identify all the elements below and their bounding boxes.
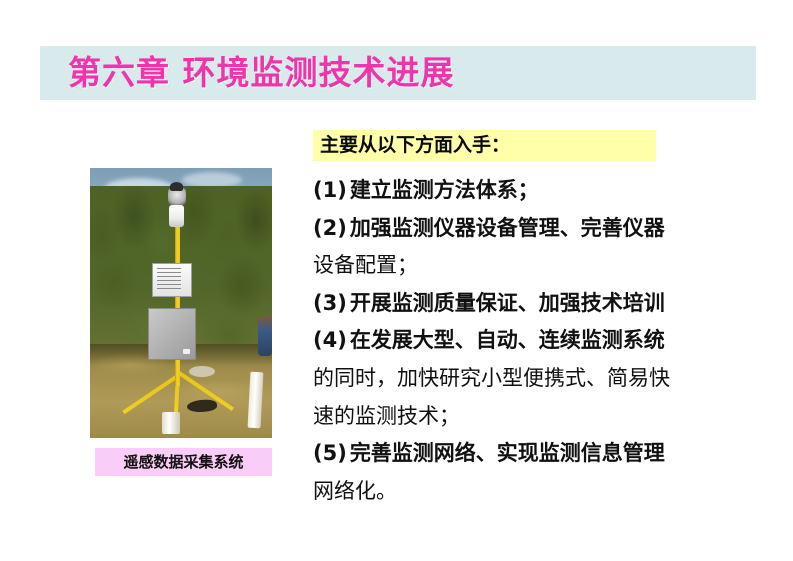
list-item-text: 设备配置； [313, 253, 418, 277]
list-item-text: 的同时，加快研究小型便携式、简易快 [313, 366, 670, 390]
body-line: (3)开展监测质量保证、加强技术培训 [313, 285, 733, 323]
photo-person [258, 316, 272, 356]
list-item-text: 速的监测技术； [313, 404, 460, 428]
body-line: 速的监测技术； [313, 398, 733, 436]
figure-caption: 遥感数据采集系统 [95, 448, 272, 476]
photo-rock [189, 366, 215, 377]
body-line: (1)建立监测方法体系； [313, 172, 733, 210]
list-item-number: (3) [313, 291, 347, 315]
list-item-text: 在发展大型、自动、连续监测系统 [350, 328, 665, 352]
page-title: 第六章 环境监测技术进展 [68, 47, 688, 99]
body-line: 的同时，加快研究小型便携式、简易快 [313, 360, 733, 398]
body-line: 网络化。 [313, 473, 733, 511]
section-heading: 主要从以下方面入手： [320, 130, 660, 161]
photo-base-cylinder [162, 412, 180, 434]
list-item-number: (4) [313, 328, 347, 352]
photo-instrument-enclosure [148, 308, 196, 360]
list-item-text: 开展监测质量保证、加强技术培训 [350, 291, 665, 315]
photo-anemometer-icon [170, 182, 183, 191]
list-item-text: 网络化。 [313, 479, 397, 503]
list-item-text: 完善监测网络、实现监测信息管理 [350, 441, 665, 465]
body-line: 设备配置； [313, 247, 733, 285]
list-item-text: 建立监测方法体系； [350, 178, 539, 202]
body-line: (2)加强监测仪器设备管理、完善仪器 [313, 210, 733, 248]
body-line: (4)在发展大型、自动、连续监测系统 [313, 322, 733, 360]
list-item-number: (2) [313, 216, 347, 240]
list-item-text: 加强监测仪器设备管理、完善仪器 [350, 216, 665, 240]
body-list: (1)建立监测方法体系；(2)加强监测仪器设备管理、完善仪器设备配置；(3)开展… [313, 172, 733, 510]
body-line: (5)完善监测网络、实现监测信息管理 [313, 435, 733, 473]
photo-tripod-mast [175, 214, 180, 386]
photo-sensor-housing [169, 205, 184, 227]
slide-canvas: 第六章 环境监测技术进展 遥感数据采集系统 主要从以下方面入手： (1)建立监测… [0, 0, 793, 561]
list-item-number: (1) [313, 178, 347, 202]
list-item-number: (5) [313, 441, 347, 465]
figure-photo [90, 168, 272, 438]
photo-solar-panel [152, 263, 192, 297]
